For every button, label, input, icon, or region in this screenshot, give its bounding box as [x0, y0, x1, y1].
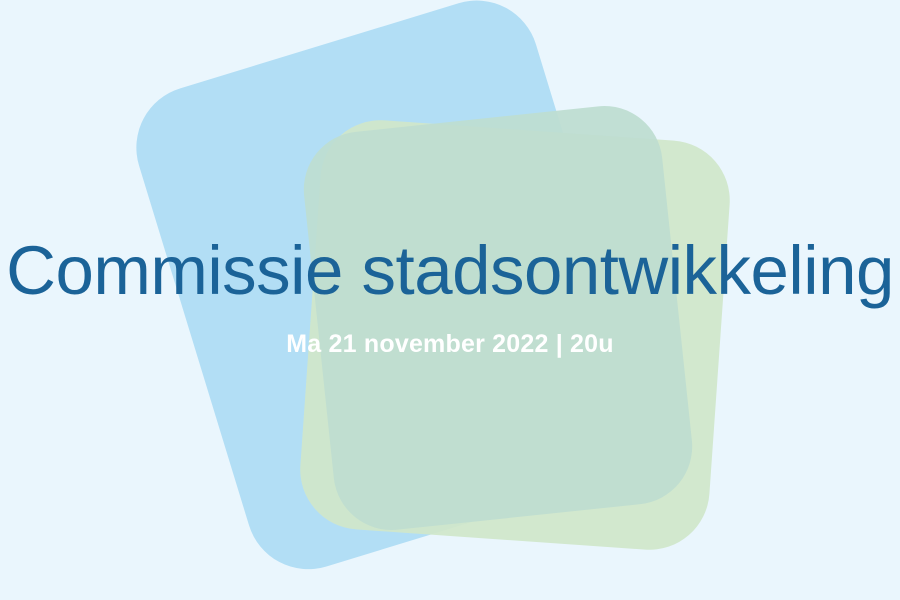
event-banner: Commissie stadsontwikkeling Ma 21 novemb…: [0, 0, 900, 600]
event-datetime: Ma 21 november 2022 | 20u: [286, 329, 613, 359]
page-title: Commissie stadsontwikkeling: [6, 235, 894, 307]
banner-text-block: Commissie stadsontwikkeling Ma 21 novemb…: [0, 0, 900, 600]
